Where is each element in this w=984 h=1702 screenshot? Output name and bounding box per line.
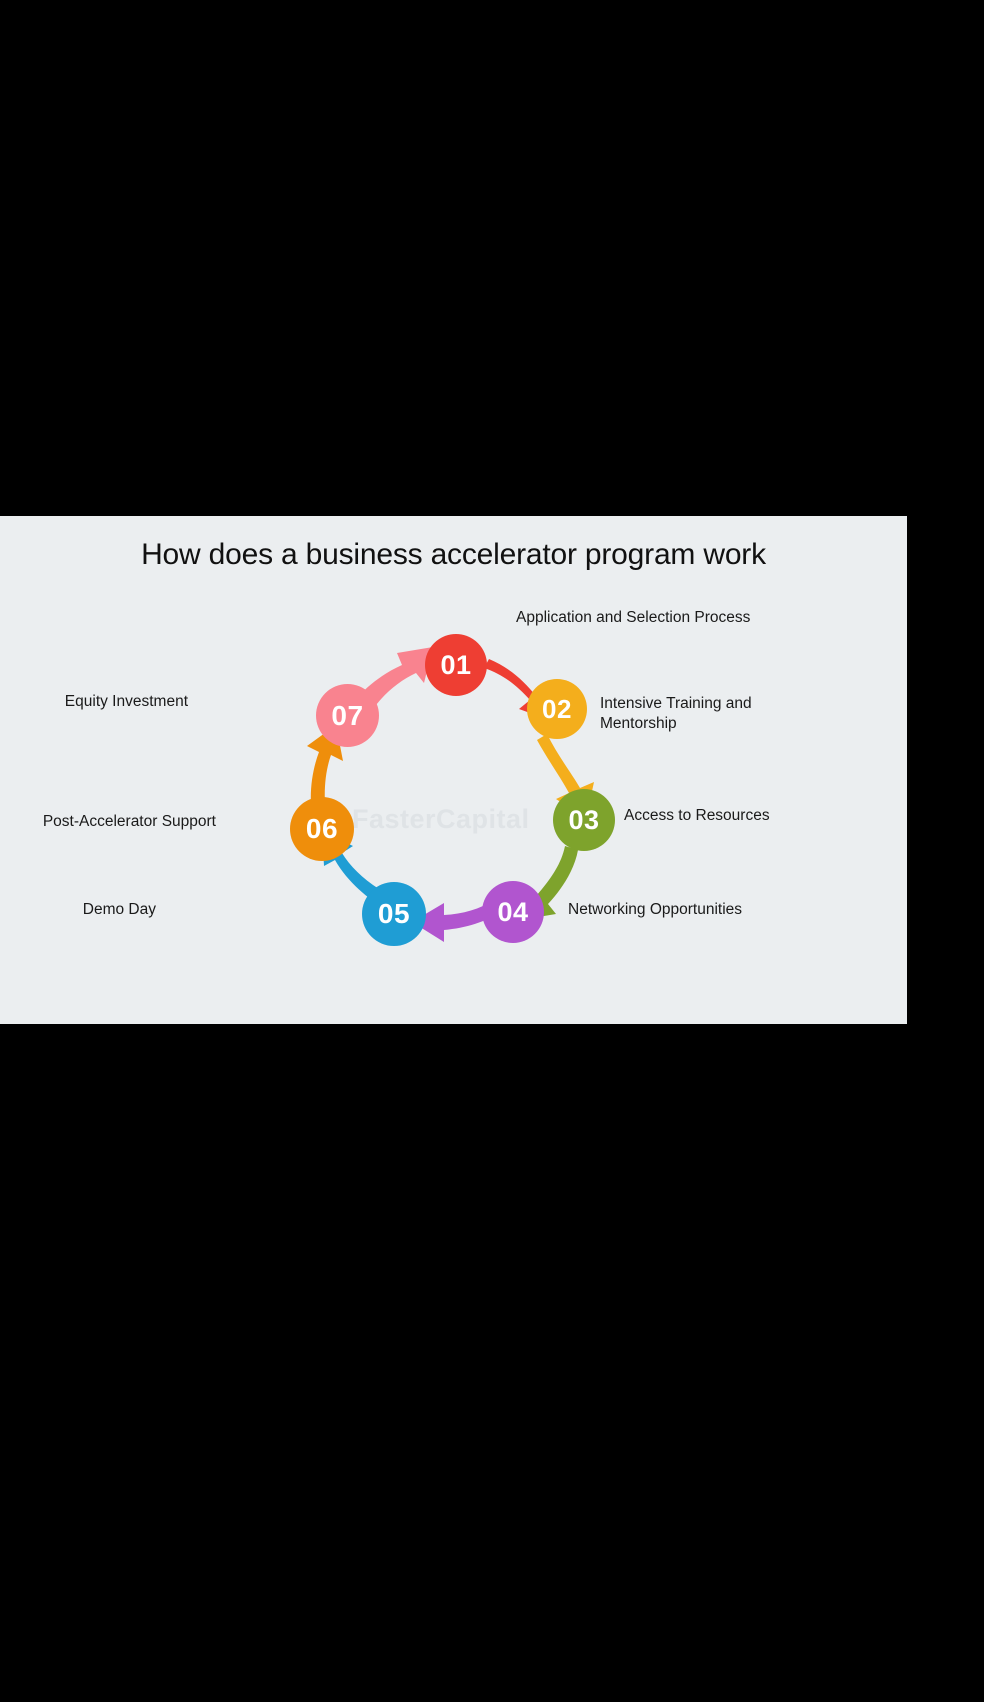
cycle-node-05[interactable]: 05 <box>362 882 426 946</box>
slide-canvas: How does a business accelerator program … <box>0 516 907 1024</box>
cycle-label-02: Intensive Training and Mentorship <box>600 694 800 735</box>
watermark-text: FasterCapital <box>352 804 530 835</box>
cycle-node-07-number: 07 <box>331 700 363 732</box>
cycle-node-01-number: 01 <box>440 650 471 681</box>
cycle-label-05: Demo Day <box>0 900 156 920</box>
cycle-node-06-number: 06 <box>306 813 338 845</box>
cycle-diagram: FasterCapital 01 02 03 04 05 06 07 Appli… <box>0 516 907 1024</box>
watermark: FasterCapital <box>318 799 588 839</box>
cycle-node-04-number: 04 <box>497 897 528 928</box>
cycle-node-02[interactable]: 02 <box>527 679 587 739</box>
cycle-node-06[interactable]: 06 <box>290 797 354 861</box>
cycle-label-07: Equity Investment <box>0 692 188 712</box>
cycle-label-06: Post-Accelerator Support <box>0 812 216 832</box>
cycle-label-01: Application and Selection Process <box>516 608 756 628</box>
cycle-node-01[interactable]: 01 <box>425 634 487 696</box>
cycle-node-03-number: 03 <box>568 805 599 836</box>
cycle-node-04[interactable]: 04 <box>482 881 544 943</box>
cycle-label-03: Access to Resources <box>624 806 854 826</box>
cycle-label-04: Networking Opportunities <box>568 900 828 920</box>
cycle-node-02-number: 02 <box>542 694 572 725</box>
cycle-node-03[interactable]: 03 <box>553 789 615 851</box>
cycle-node-07[interactable]: 07 <box>316 684 379 747</box>
cycle-arrows-layer <box>0 516 907 1024</box>
cycle-node-05-number: 05 <box>378 898 410 930</box>
